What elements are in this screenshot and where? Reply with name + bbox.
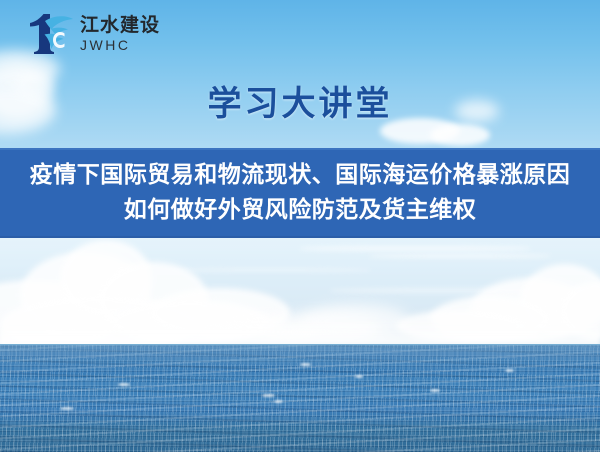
ocean-background	[0, 345, 600, 452]
ocean-distance-fade	[0, 345, 600, 371]
topic-banner: 疫情下国际贸易和物流现状、国际海运价格暴涨原因 如何做好外贸风险防范及货主维权	[0, 148, 600, 238]
logo-company-name-cn: 江水建设	[80, 16, 160, 35]
cirrus-streak	[170, 268, 370, 272]
ocean-sparkle	[430, 389, 440, 392]
topic-banner-line-1: 疫情下国际贸易和物流现状、国际海运价格暴涨原因	[30, 159, 571, 192]
ocean-sparkle	[262, 394, 275, 397]
cirrus-streak	[370, 254, 550, 258]
brand-logo[interactable]: 江水建设 JWHC	[28, 12, 160, 56]
logo-company-name-en: JWHC	[80, 38, 160, 52]
logo-wordmark: 江水建设 JWHC	[80, 16, 160, 52]
poster-canvas: 江水建设 JWHC 学习大讲堂 疫情下国际贸易和物流现状、国际海运价格暴涨原因 …	[0, 0, 600, 452]
topic-banner-line-2: 如何做好外贸风险防范及货主维权	[124, 194, 477, 227]
page-title: 学习大讲堂	[0, 76, 600, 125]
ocean-sparkle	[355, 375, 363, 378]
ocean-sparkle	[118, 383, 130, 386]
cirrus-streak	[300, 246, 530, 251]
ocean-sparkle	[274, 400, 283, 403]
cirrus-streak	[40, 330, 340, 334]
jwhc-wing-logo-icon	[28, 12, 74, 56]
ocean-sparkle	[60, 407, 74, 410]
ocean-sparkle	[505, 369, 514, 372]
ocean-sparkle	[300, 363, 311, 366]
cloud-top-right	[430, 124, 490, 146]
